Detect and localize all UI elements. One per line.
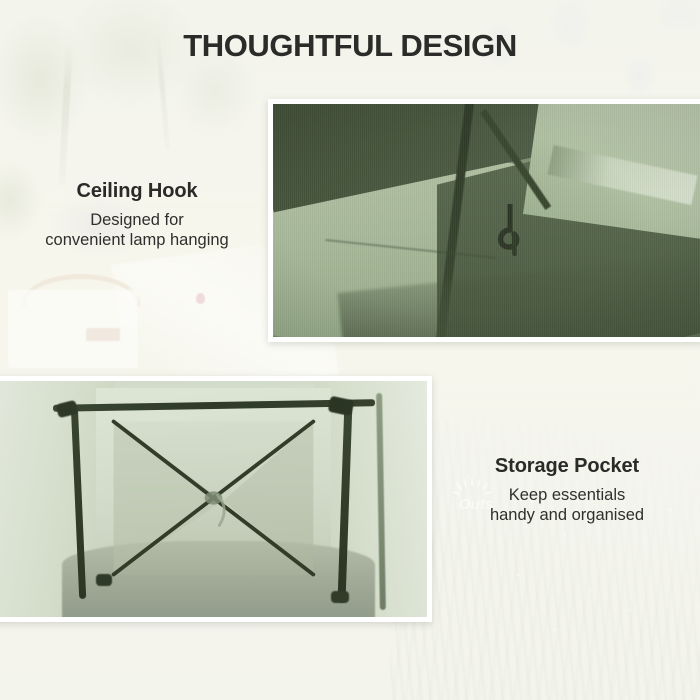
feature-photo-ceiling-hook xyxy=(268,99,700,342)
ceiling-hook-description-line-2: convenient lamp hanging xyxy=(6,230,268,250)
storage-pocket-heading: Storage Pocket xyxy=(438,455,696,478)
storage-pocket-mesh xyxy=(96,414,331,584)
photo-vignette xyxy=(273,104,700,337)
storage-pocket-description-line-2: handy and organised xyxy=(438,505,696,525)
storage-pocket-image xyxy=(0,381,427,617)
tent-pole-connector-bottom-left xyxy=(96,574,112,586)
ceiling-hook-image xyxy=(273,104,700,337)
storage-pocket-description-line-1: Keep essentials xyxy=(438,485,696,505)
tent-pole-connector-bottom-right xyxy=(331,591,349,603)
feature-photo-storage-pocket xyxy=(0,376,432,622)
promo-graphic-canvas: THOUGHTFUL DESIGN xyxy=(0,0,700,700)
feature-text-ceiling-hook: Ceiling Hook Designed for convenient lam… xyxy=(6,180,268,250)
feature-text-storage-pocket: Storage Pocket Keep essentials handy and… xyxy=(438,455,696,525)
storage-pocket-description: Keep essentials handy and organised xyxy=(438,485,696,525)
ceiling-hook-heading: Ceiling Hook xyxy=(6,180,268,203)
ceiling-hook-description: Designed for convenient lamp hanging xyxy=(6,210,268,250)
ceiling-hook-description-line-1: Designed for xyxy=(6,210,268,230)
page-title: THOUGHTFUL DESIGN xyxy=(0,28,700,64)
